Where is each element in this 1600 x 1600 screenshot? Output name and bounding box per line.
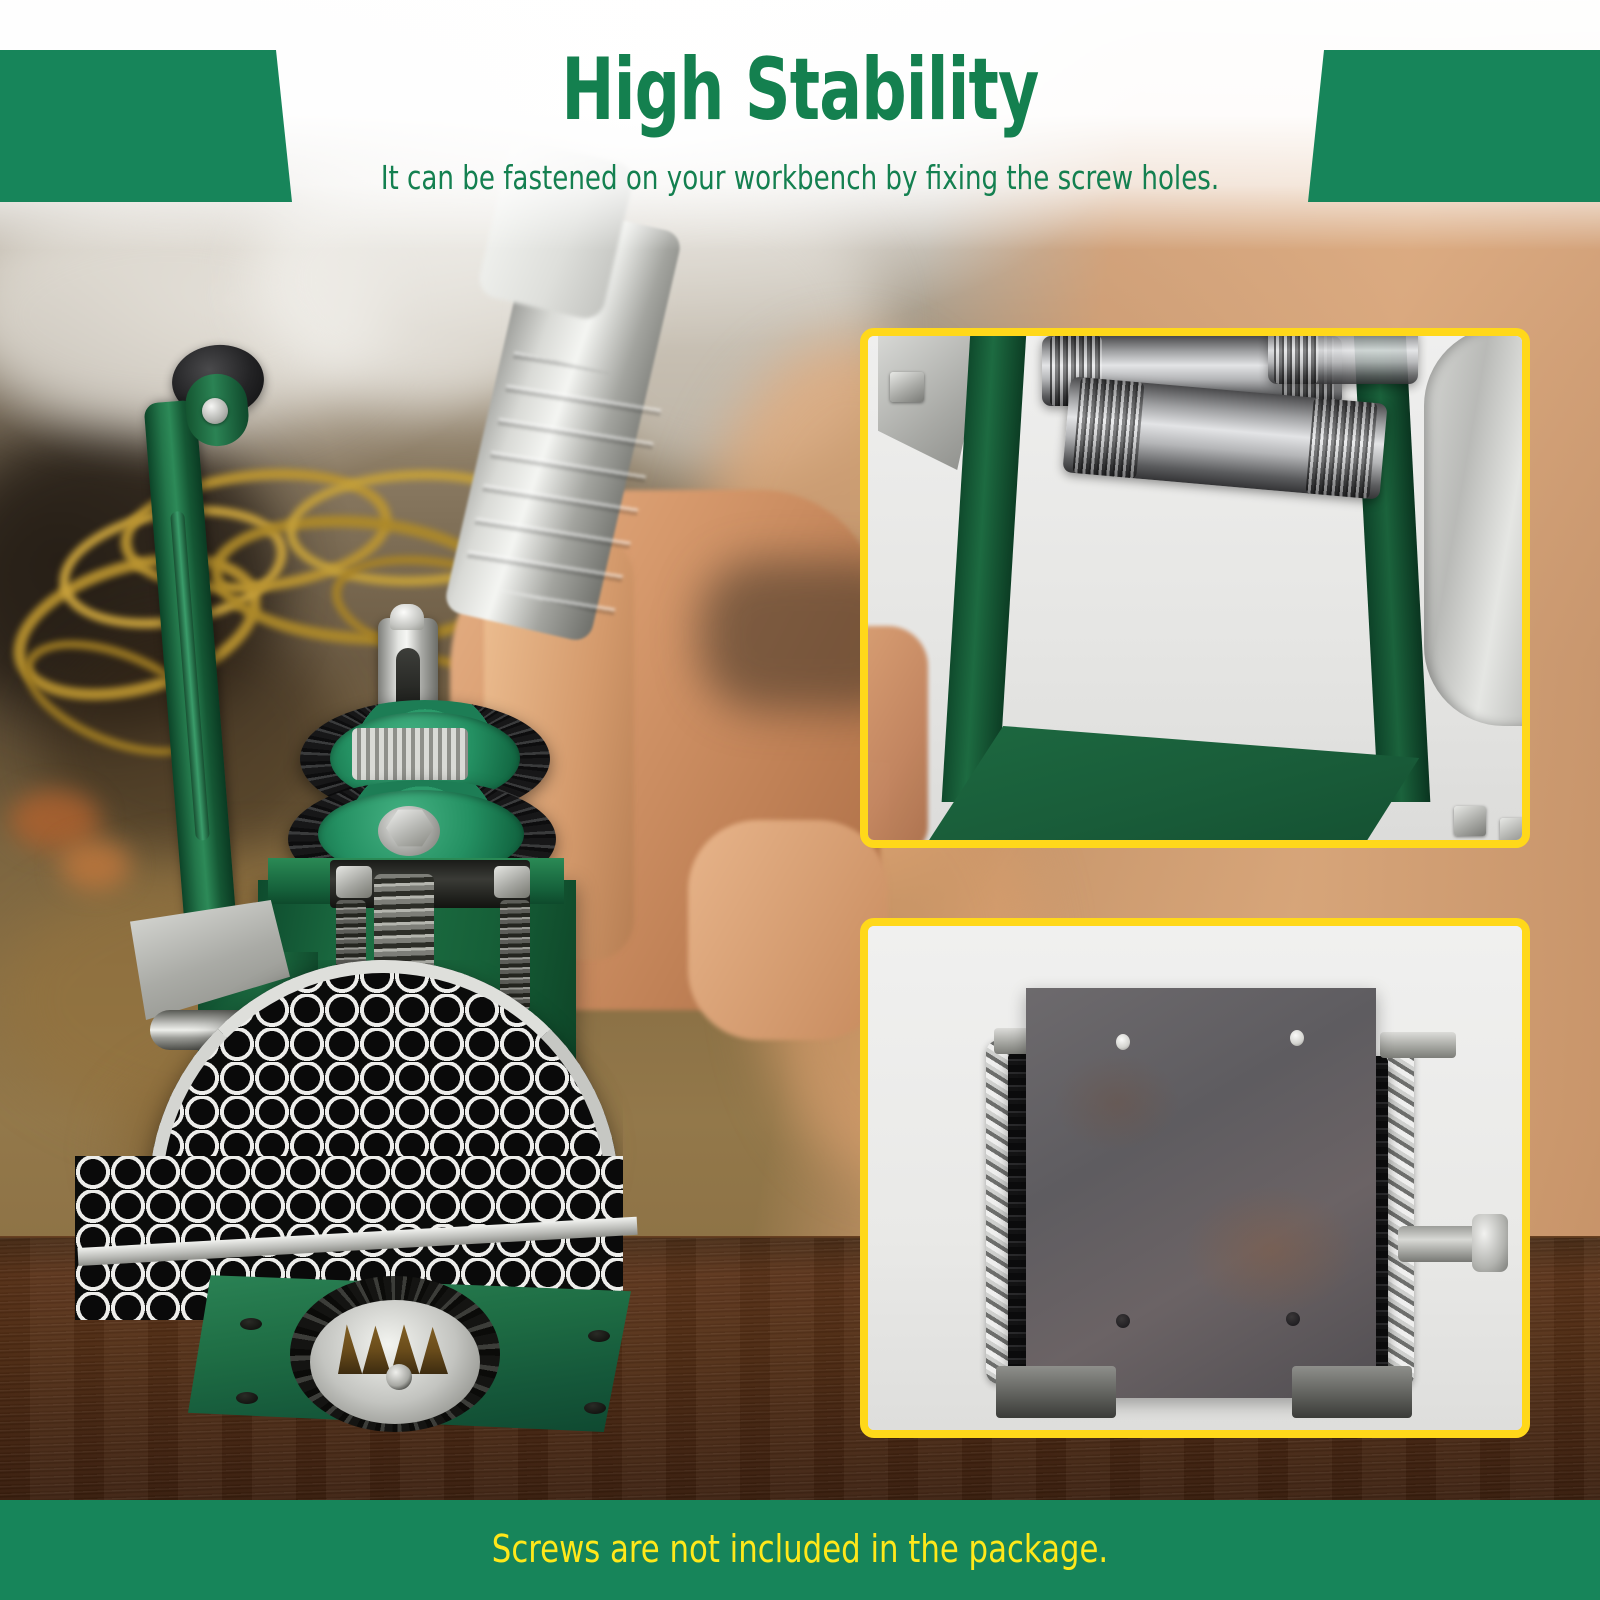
inset-bottom-rope-right	[1388, 1044, 1414, 1388]
inset-bottom-screw-hole-1	[1116, 1034, 1130, 1050]
inset-bottom-axle-nut	[1472, 1214, 1508, 1272]
inset-bottom-foot-right	[1292, 1366, 1412, 1418]
mesh-safety-guard	[75, 960, 623, 1320]
inset-bottom-foot-left	[996, 1366, 1116, 1418]
inset-top-hand-blur	[860, 626, 928, 848]
shaft-collar	[352, 728, 468, 780]
clamp-bolt-right	[494, 866, 530, 898]
inset-bottom-cap-right	[1380, 1032, 1456, 1058]
inset-top-bolt-2	[1454, 806, 1486, 836]
inset-bottom-back-plate	[1026, 988, 1376, 1398]
roller-lower-grooves-right	[1305, 398, 1377, 499]
inset-photo-underside-detail	[860, 918, 1530, 1438]
handle-groove	[170, 511, 210, 841]
page-subtitle: It can be fastened on your workbench by …	[96, 158, 1504, 198]
base-screw-hole-1	[240, 1318, 262, 1330]
inset-bottom-screw-hole-3	[1116, 1314, 1130, 1328]
footer-note: Screws are not included in the package.	[80, 1526, 1520, 1572]
inset-top-side-flange	[1424, 328, 1530, 726]
shaft-cap	[390, 604, 424, 630]
roller-rear	[1268, 328, 1418, 384]
product-marketing-image: High Stability It can be fastened on you…	[0, 0, 1600, 1600]
inset-top-bolt-1	[890, 372, 924, 402]
inset-photo-base-plate-detail	[860, 328, 1530, 848]
footer-band: Screws are not included in the package.	[0, 1500, 1600, 1600]
base-screw-hole-3	[588, 1330, 610, 1342]
page-title: High Stability	[144, 38, 1456, 142]
inset-bottom-screw-hole-4	[1286, 1312, 1300, 1326]
inset-bottom-screw-hole-2	[1290, 1030, 1304, 1046]
drive-wheel-screw	[386, 1364, 412, 1390]
roller-lower-grooves-left	[1072, 377, 1144, 478]
crank-handle	[143, 400, 236, 932]
roller-rear-grooves	[1274, 328, 1318, 384]
base-screw-hole-4	[584, 1402, 606, 1414]
inset-top-screw-hole-1	[1026, 841, 1046, 848]
handle-pivot-pin	[202, 398, 228, 424]
clamp-bolt-left	[336, 866, 372, 898]
base-screw-hole-2	[236, 1392, 258, 1404]
inset-top-rollers	[1018, 330, 1438, 540]
inset-top-bolt-3	[1500, 818, 1530, 848]
